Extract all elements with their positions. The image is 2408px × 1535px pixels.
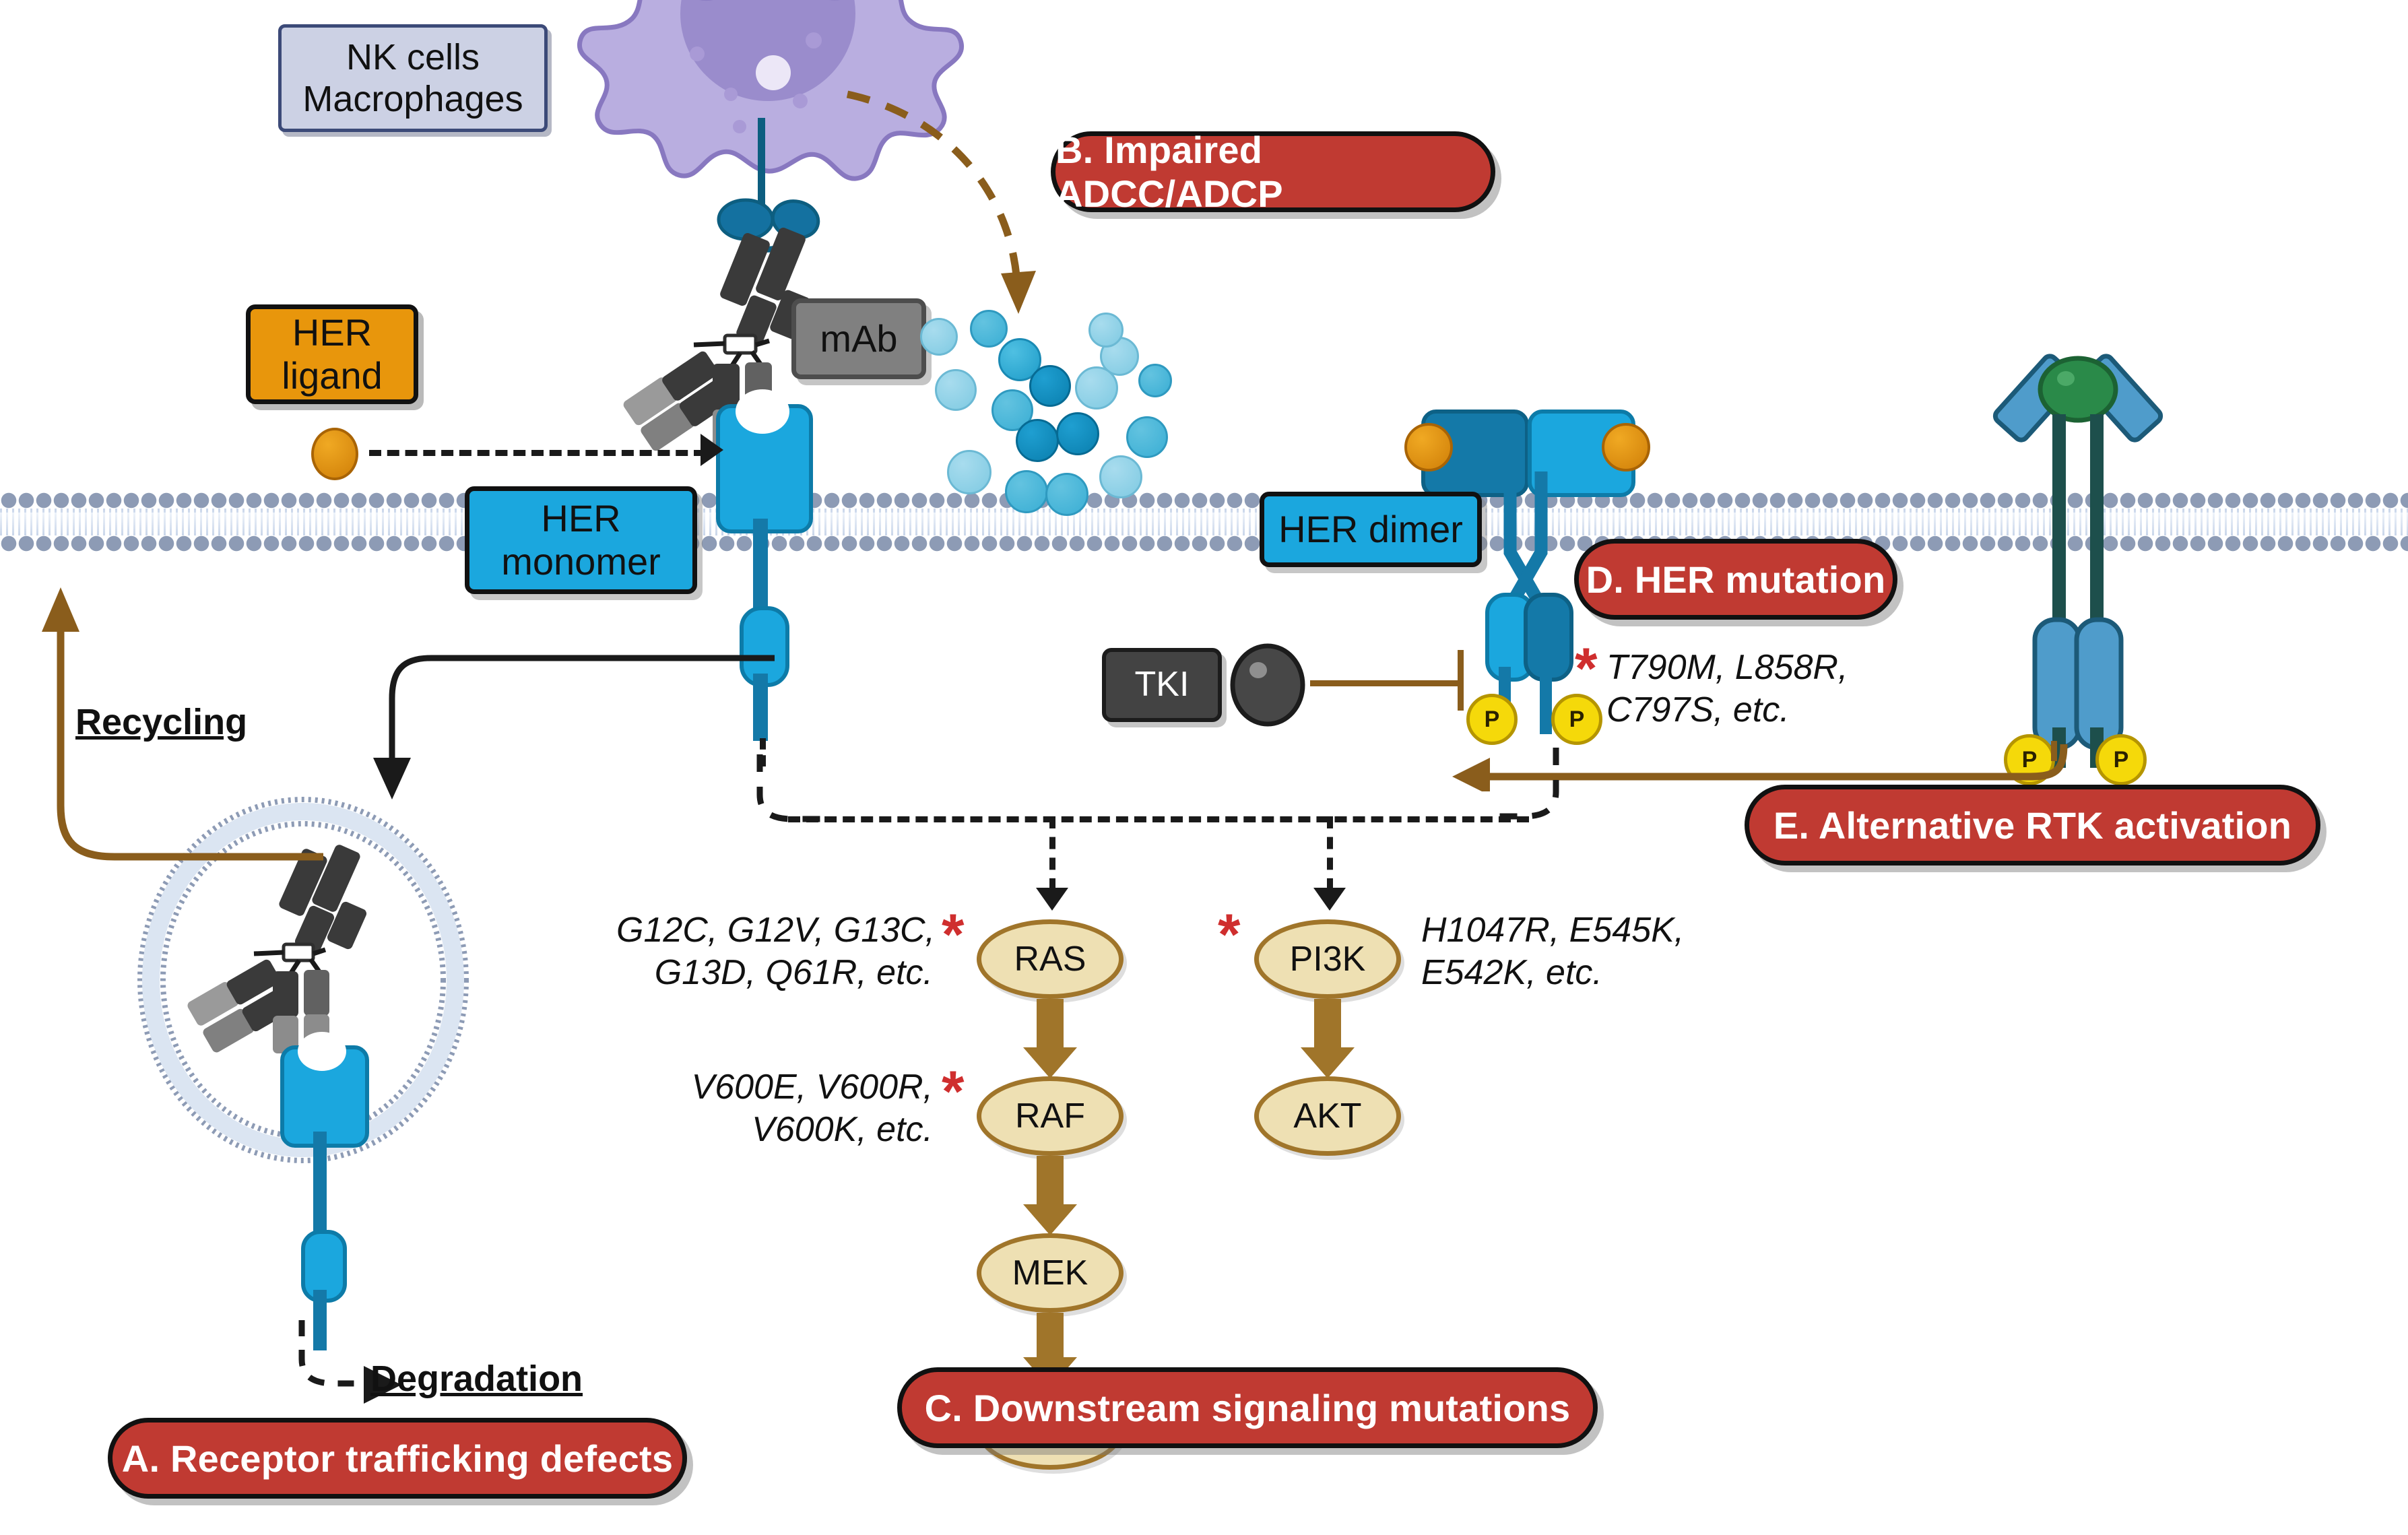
her-dimer-tail-right: [1540, 667, 1552, 734]
granule: [1088, 313, 1124, 348]
cascade-node-akt: AKT: [1254, 1076, 1401, 1156]
callout-e-alternative-rtk-activation: E. Alternative RTK activation: [1745, 785, 2320, 866]
pi3k-mutation-list: H1047R, E545K, E542K, etc.: [1421, 909, 1684, 995]
granule: [1099, 455, 1142, 498]
cascade-node-raf: RAF: [977, 1076, 1124, 1156]
her-dimer-label: HER dimer: [1260, 492, 1482, 567]
tki-inhibition-line: [1310, 680, 1460, 686]
her-ligand-molecule: [311, 428, 358, 480]
arrow-head: [1023, 1204, 1077, 1235]
her-dimer-ligand-right: [1602, 423, 1650, 471]
her-mutation-list: T790M, L858R, C797S, etc.: [1606, 647, 1848, 732]
asterisk-ras: *: [942, 906, 964, 964]
her-ligand-label: HER ligand: [246, 304, 418, 404]
arrow-shaft: [1314, 999, 1341, 1050]
arrow-head: [1023, 1047, 1077, 1078]
granule: [1005, 470, 1048, 513]
tki-label: TKI: [1102, 648, 1222, 722]
tki-inhibition-cap: [1458, 650, 1464, 711]
alternative-rtk: [1963, 350, 2192, 768]
signal-bus-horizontal: [788, 816, 1529, 822]
signal-branch-to-ras-arrowhead: [1036, 888, 1068, 911]
cascade-arrow-ras-raf: [1023, 999, 1077, 1078]
signal-branch-to-pi3k-arrowhead: [1313, 888, 1346, 911]
ras-mutation-list: G12C, G12V, G13C, G13D, Q61R, etc.: [616, 909, 933, 995]
granule: [935, 369, 977, 411]
ligand-binding-cleft: [736, 389, 789, 434]
arrow-shaft: [1037, 999, 1064, 1050]
cascade-arrow-raf-mek: [1023, 1156, 1077, 1235]
degradation-label: Degradation: [370, 1357, 583, 1402]
asterisk-raf: *: [942, 1063, 964, 1121]
arrow-head: [1301, 1047, 1355, 1078]
cascade-arrow-pi3k-akt: [1301, 999, 1355, 1078]
arrow-shaft: [1037, 1313, 1064, 1360]
granule: [1016, 419, 1059, 462]
adcc-impairment-arrow: [842, 88, 1071, 330]
internalized-receptor-stalk: [313, 1132, 327, 1239]
nk-macrophage-label: NK cells Macrophages: [278, 24, 548, 132]
tki-molecule: [1226, 643, 1313, 727]
callout-a-receptor-trafficking-defects: A. Receptor trafficking defects: [108, 1418, 687, 1499]
ligand-binding-arrow: [369, 450, 706, 456]
granule: [1075, 366, 1118, 410]
callout-b-impaired-adcc-adcp: B. Impaired ADCC/ADCP: [1051, 131, 1495, 212]
granule: [970, 310, 1008, 348]
cytotoxic-granule-cluster: [909, 337, 1192, 519]
raf-mutation-list: V600E, V600R, V600K, etc.: [616, 1066, 933, 1152]
signal-branch-to-pi3k: [1327, 816, 1333, 890]
granule: [1126, 416, 1168, 458]
cascade-node-mek: MEK: [977, 1233, 1124, 1313]
granule: [947, 450, 991, 494]
granule: [1056, 412, 1099, 455]
her-dimer-ligand-left: [1404, 423, 1453, 471]
cascade-node-ras: RAS: [977, 919, 1124, 999]
granule: [1138, 364, 1172, 397]
cascade-node-pi3k: PI3K: [1254, 919, 1401, 999]
granule: [1029, 365, 1071, 407]
callout-d-her-mutation: D. HER mutation: [1574, 539, 1897, 620]
arrow-shaft: [1037, 1156, 1064, 1207]
figure-canvas: NK cells Macrophages: [0, 0, 2408, 1535]
asterisk-her-mutation: *: [1575, 640, 1597, 698]
her-monomer-transmembrane: [753, 519, 768, 613]
callout-c-downstream-signaling-mutations: C. Downstream signaling mutations: [897, 1367, 1598, 1448]
signal-bus-right-elbow: [1489, 748, 1583, 828]
phospho-mark: P: [2095, 734, 2147, 785]
asterisk-pi3k: *: [1218, 906, 1240, 964]
granule: [920, 318, 958, 356]
signal-branch-to-ras: [1049, 816, 1055, 890]
ligand-binding-arrowhead: [701, 434, 723, 466]
internalized-ligand-cleft: [298, 1032, 346, 1071]
granule: [1045, 473, 1088, 516]
recycling-label: Recycling: [75, 700, 247, 745]
her-monomer-label: HER monomer: [465, 486, 697, 594]
